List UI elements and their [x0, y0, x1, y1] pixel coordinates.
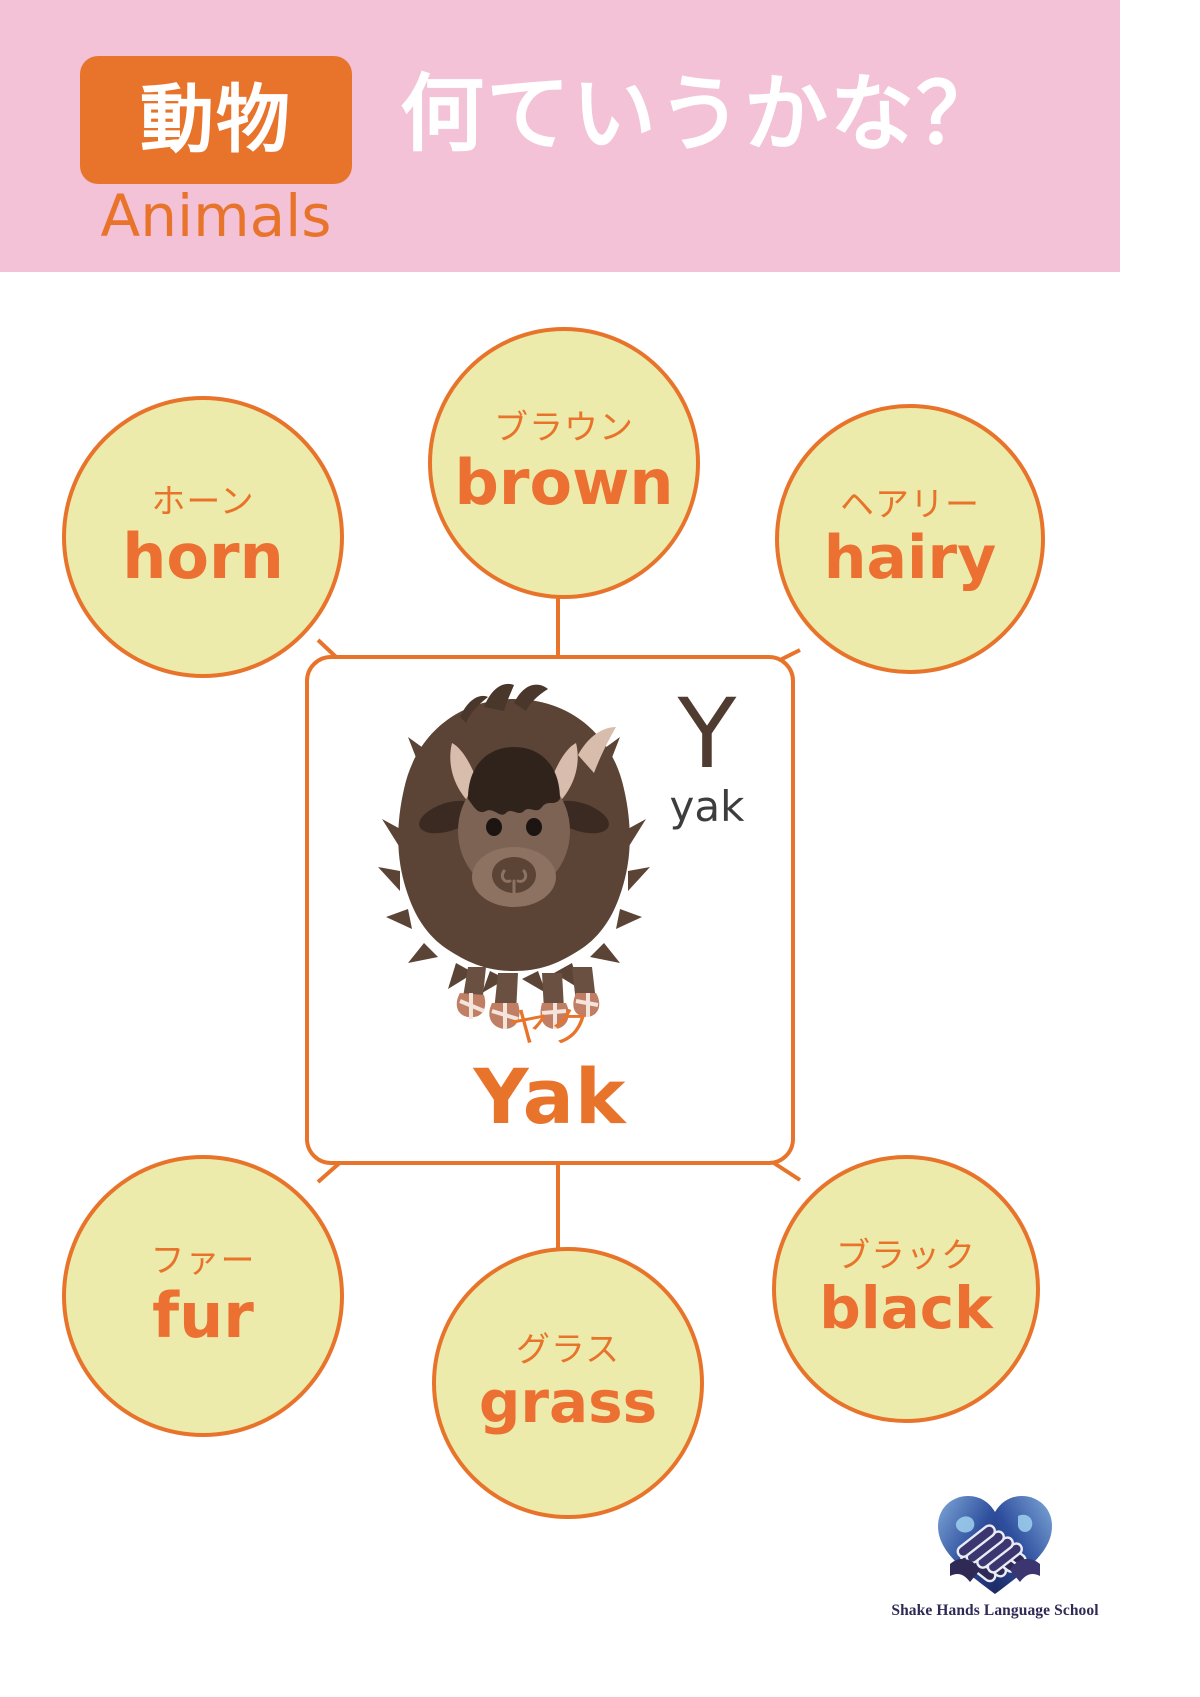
vocab-bubble-hairy[interactable]: ヘアリー hairy	[775, 404, 1045, 674]
bubble-word: black	[819, 1275, 993, 1342]
main-word-card[interactable]: Y yak ヤク Yak	[305, 655, 795, 1165]
school-name: Shake Hands Language School	[880, 1602, 1110, 1620]
yak-illustration	[364, 681, 664, 1031]
bubble-kana: ホーン	[151, 482, 254, 523]
bubble-word: horn	[122, 521, 283, 592]
category-badge: 動物	[80, 56, 352, 184]
bubble-kana: ブラック	[836, 1236, 976, 1277]
school-logo: Shake Hands Language School	[880, 1490, 1110, 1660]
vocab-bubble-black[interactable]: ブラック black	[772, 1155, 1040, 1423]
card-word-label: Yak	[309, 1052, 791, 1141]
card-kana-label: ヤク	[309, 995, 791, 1053]
vocab-bubble-fur[interactable]: ファー fur	[62, 1155, 344, 1437]
bubble-kana: ヘアリー	[840, 485, 980, 526]
category-badge-sublabel: Animals	[80, 186, 352, 247]
alphabet-letter-block: Y yak	[647, 689, 767, 830]
bubble-kana: ブラウン	[494, 408, 634, 449]
alphabet-lowercase-word: yak	[647, 784, 767, 830]
bubble-word: grass	[479, 1369, 657, 1436]
vocab-bubble-brown[interactable]: ブラウン brown	[428, 327, 700, 599]
bubble-kana: ファー	[151, 1241, 256, 1282]
vocab-bubble-horn[interactable]: ホーン horn	[62, 396, 344, 678]
bubble-word: brown	[455, 447, 674, 518]
alphabet-uppercase: Y	[647, 689, 767, 780]
globe-heart-handshake-icon	[930, 1490, 1060, 1600]
bubble-word: fur	[152, 1280, 254, 1351]
poster-header: 動物 Animals 何ていうかな？	[0, 0, 1120, 272]
category-badge-label: 動物	[140, 83, 292, 157]
bubble-word: hairy	[824, 524, 996, 593]
vocab-bubble-grass[interactable]: グラス grass	[432, 1247, 704, 1519]
bubble-kana: グラス	[516, 1330, 620, 1371]
page-title: 何ていうかな？	[400, 66, 1100, 163]
